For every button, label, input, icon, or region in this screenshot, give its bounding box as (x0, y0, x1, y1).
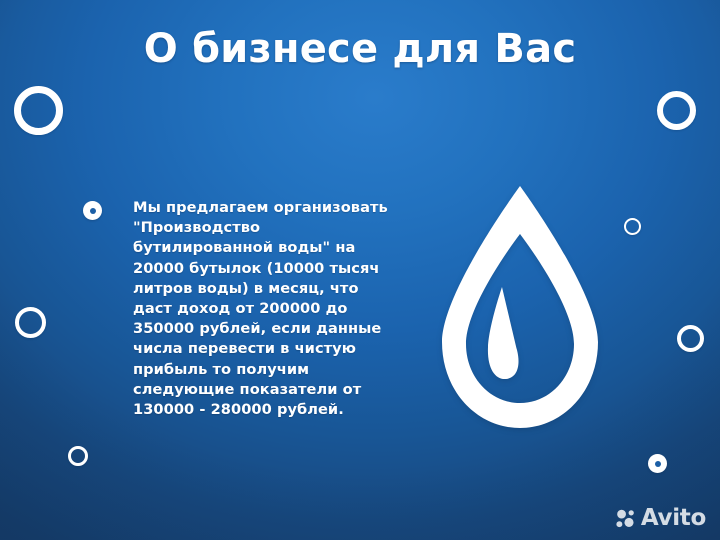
slide-canvas: О бизнесе для Вас Мы предлагаем организо… (0, 0, 720, 540)
slide-title: О бизнесе для Вас (0, 27, 720, 71)
circle-outline-icon-mid-left (15, 307, 46, 338)
circle-outline-icon-mid-right (624, 218, 641, 235)
avito-dots-logo (615, 508, 636, 529)
circle-outline-icon-top-right (657, 91, 696, 130)
avito-watermark: Avito (615, 507, 706, 530)
water-drop-icon (440, 182, 600, 432)
circle-outline-icon-bottom-left (68, 446, 88, 466)
body-text-block: Мы предлагаем организовать "Производство… (133, 198, 395, 420)
circle-outline-icon-top-left (14, 86, 63, 135)
avito-brand-text: Avito (641, 507, 706, 530)
bullet-donut-icon-decorative (648, 454, 667, 473)
body-paragraph: Мы предлагаем организовать "Производство… (133, 198, 395, 420)
bullet-donut-icon (83, 201, 102, 220)
circle-outline-icon-bottom-right (677, 325, 704, 352)
